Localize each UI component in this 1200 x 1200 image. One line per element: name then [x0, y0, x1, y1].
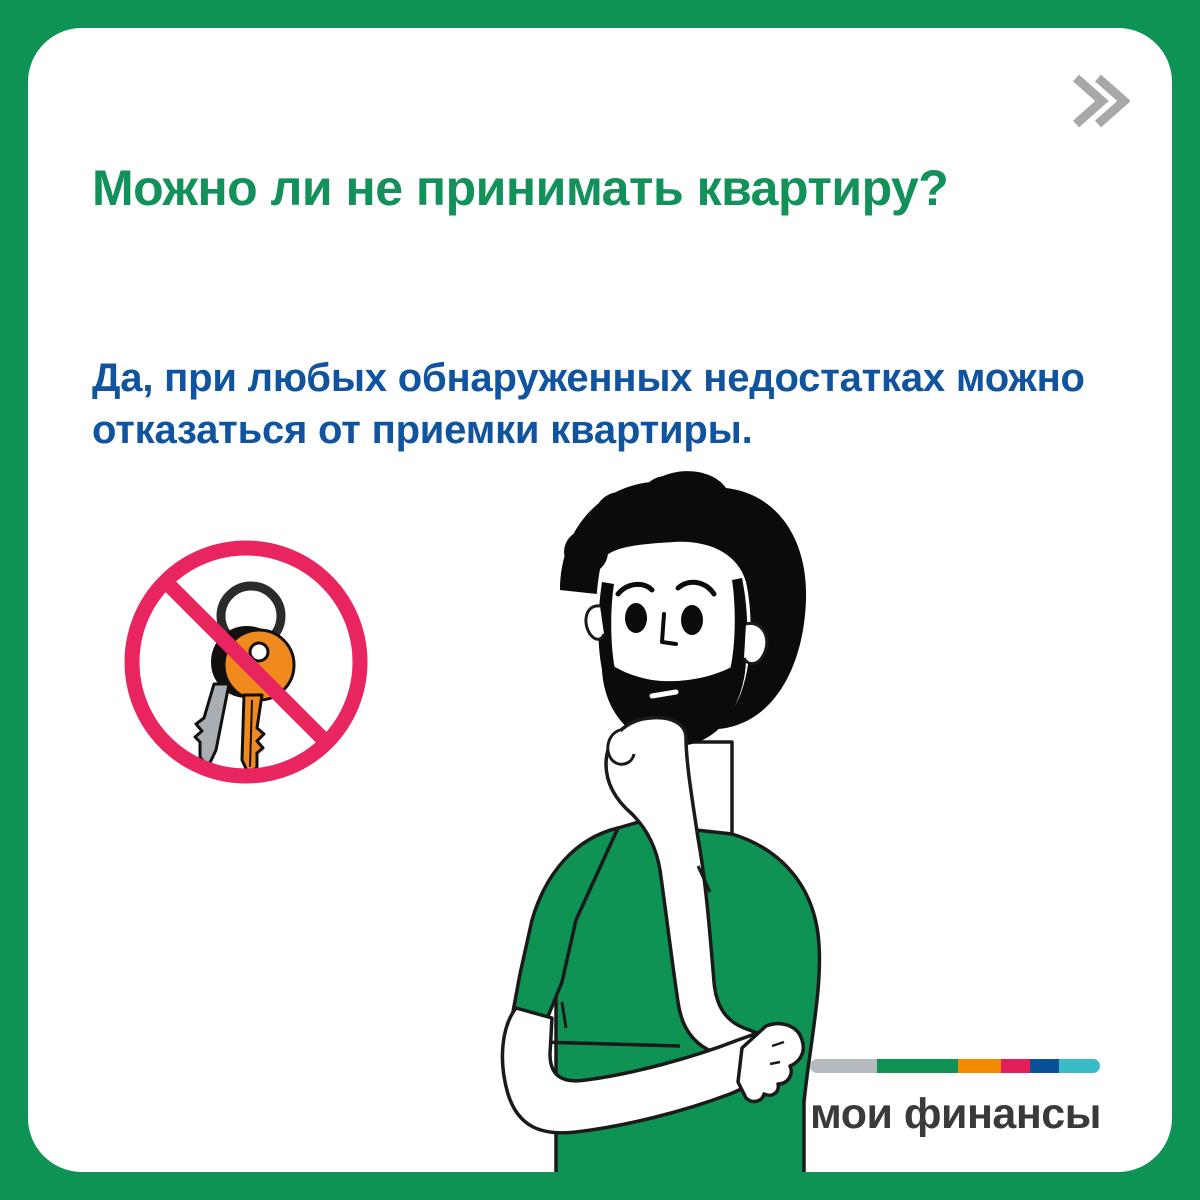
chevron-svg: [1068, 68, 1130, 134]
keys-svg: [116, 532, 376, 792]
logo-bar-segment-blue: [1030, 1059, 1059, 1073]
right-eye: [681, 605, 703, 635]
answer-paragraph: Да, при любых обнаруженных недостатках м…: [92, 352, 1122, 456]
page-title: Можно ли не принимать квартиру?: [92, 160, 1072, 218]
logo-bar-segment-cyan: [1059, 1059, 1101, 1073]
thinking-man-illustration: [380, 442, 860, 1172]
no-keys-prohibition-illustration: [116, 532, 376, 792]
logo-bar-segment-green: [877, 1059, 958, 1073]
logo-color-bar: [810, 1059, 1100, 1073]
logo-wordmark: мои финансы: [810, 1093, 1110, 1136]
left-eye: [625, 603, 647, 633]
infographic-card: Можно ли не принимать квартиру? Да, при …: [0, 0, 1200, 1200]
logo-bar-segment-orange: [958, 1059, 1002, 1073]
brand-logo: мои финансы: [810, 1059, 1110, 1136]
logo-bar-segment-pink: [1001, 1059, 1030, 1073]
person-svg: [380, 442, 860, 1172]
logo-bar-segment-gray: [810, 1059, 877, 1073]
double-chevron-right-icon[interactable]: [1068, 68, 1130, 134]
content-panel: Можно ли не принимать квартиру? Да, при …: [28, 28, 1172, 1172]
